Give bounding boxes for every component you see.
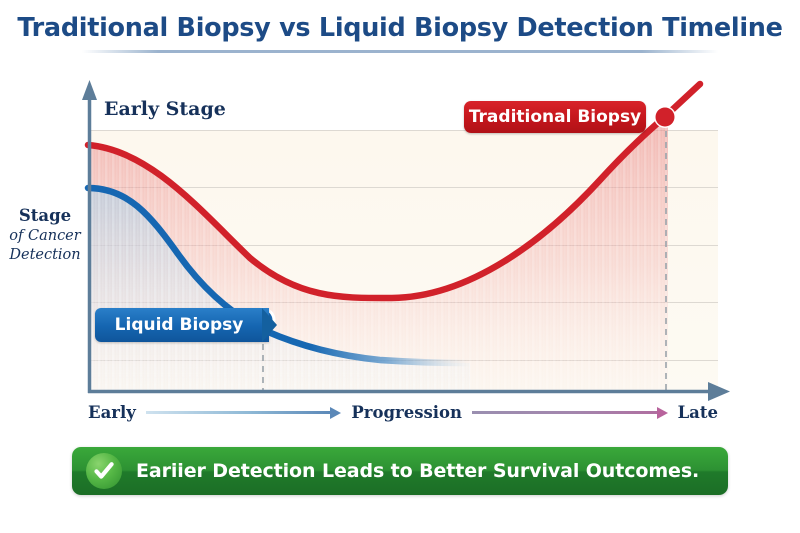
- traditional-biopsy-marker[interactable]: [654, 106, 676, 128]
- y-axis-title-line1: Stage: [2, 205, 88, 227]
- y-axis-title-line3: Detection: [2, 246, 88, 265]
- arrow-shaft: [146, 411, 333, 414]
- arrow-head: [330, 407, 341, 419]
- early-stage-label: Early Stage: [104, 98, 226, 120]
- arrow-early-to-progression-icon: [146, 406, 342, 418]
- y-axis-arrowhead: [82, 80, 97, 100]
- x-axis-label-progression: Progression: [351, 403, 462, 422]
- arrow-head: [657, 407, 668, 419]
- liquid-biopsy-label[interactable]: Liquid Biopsy: [95, 308, 269, 342]
- traditional-biopsy-line-extension: [672, 84, 700, 110]
- chart-plot-area: [0, 0, 800, 440]
- traditional-biopsy-label[interactable]: Traditional Biopsy: [464, 101, 646, 133]
- infographic-canvas: Traditional Biopsy vs Liquid Biopsy Dete…: [0, 0, 800, 533]
- outcome-banner: Eariier Detection Leads to Better Surviv…: [72, 447, 728, 495]
- outcome-banner-text: Eariier Detection Leads to Better Surviv…: [136, 460, 699, 482]
- x-axis-label-early: Early: [88, 403, 136, 422]
- arrow-shaft: [472, 411, 659, 414]
- check-mark-icon: [86, 453, 122, 489]
- x-axis-title-row: Early Progression Late: [88, 399, 718, 425]
- liquid-biopsy-label-pointer: [262, 308, 277, 342]
- y-axis-title: Stage of Cancer Detection: [2, 205, 88, 266]
- x-axis-label-late: Late: [678, 403, 718, 422]
- y-axis-title-line2: of Cancer: [2, 227, 88, 246]
- arrow-progression-to-late-icon: [472, 406, 668, 418]
